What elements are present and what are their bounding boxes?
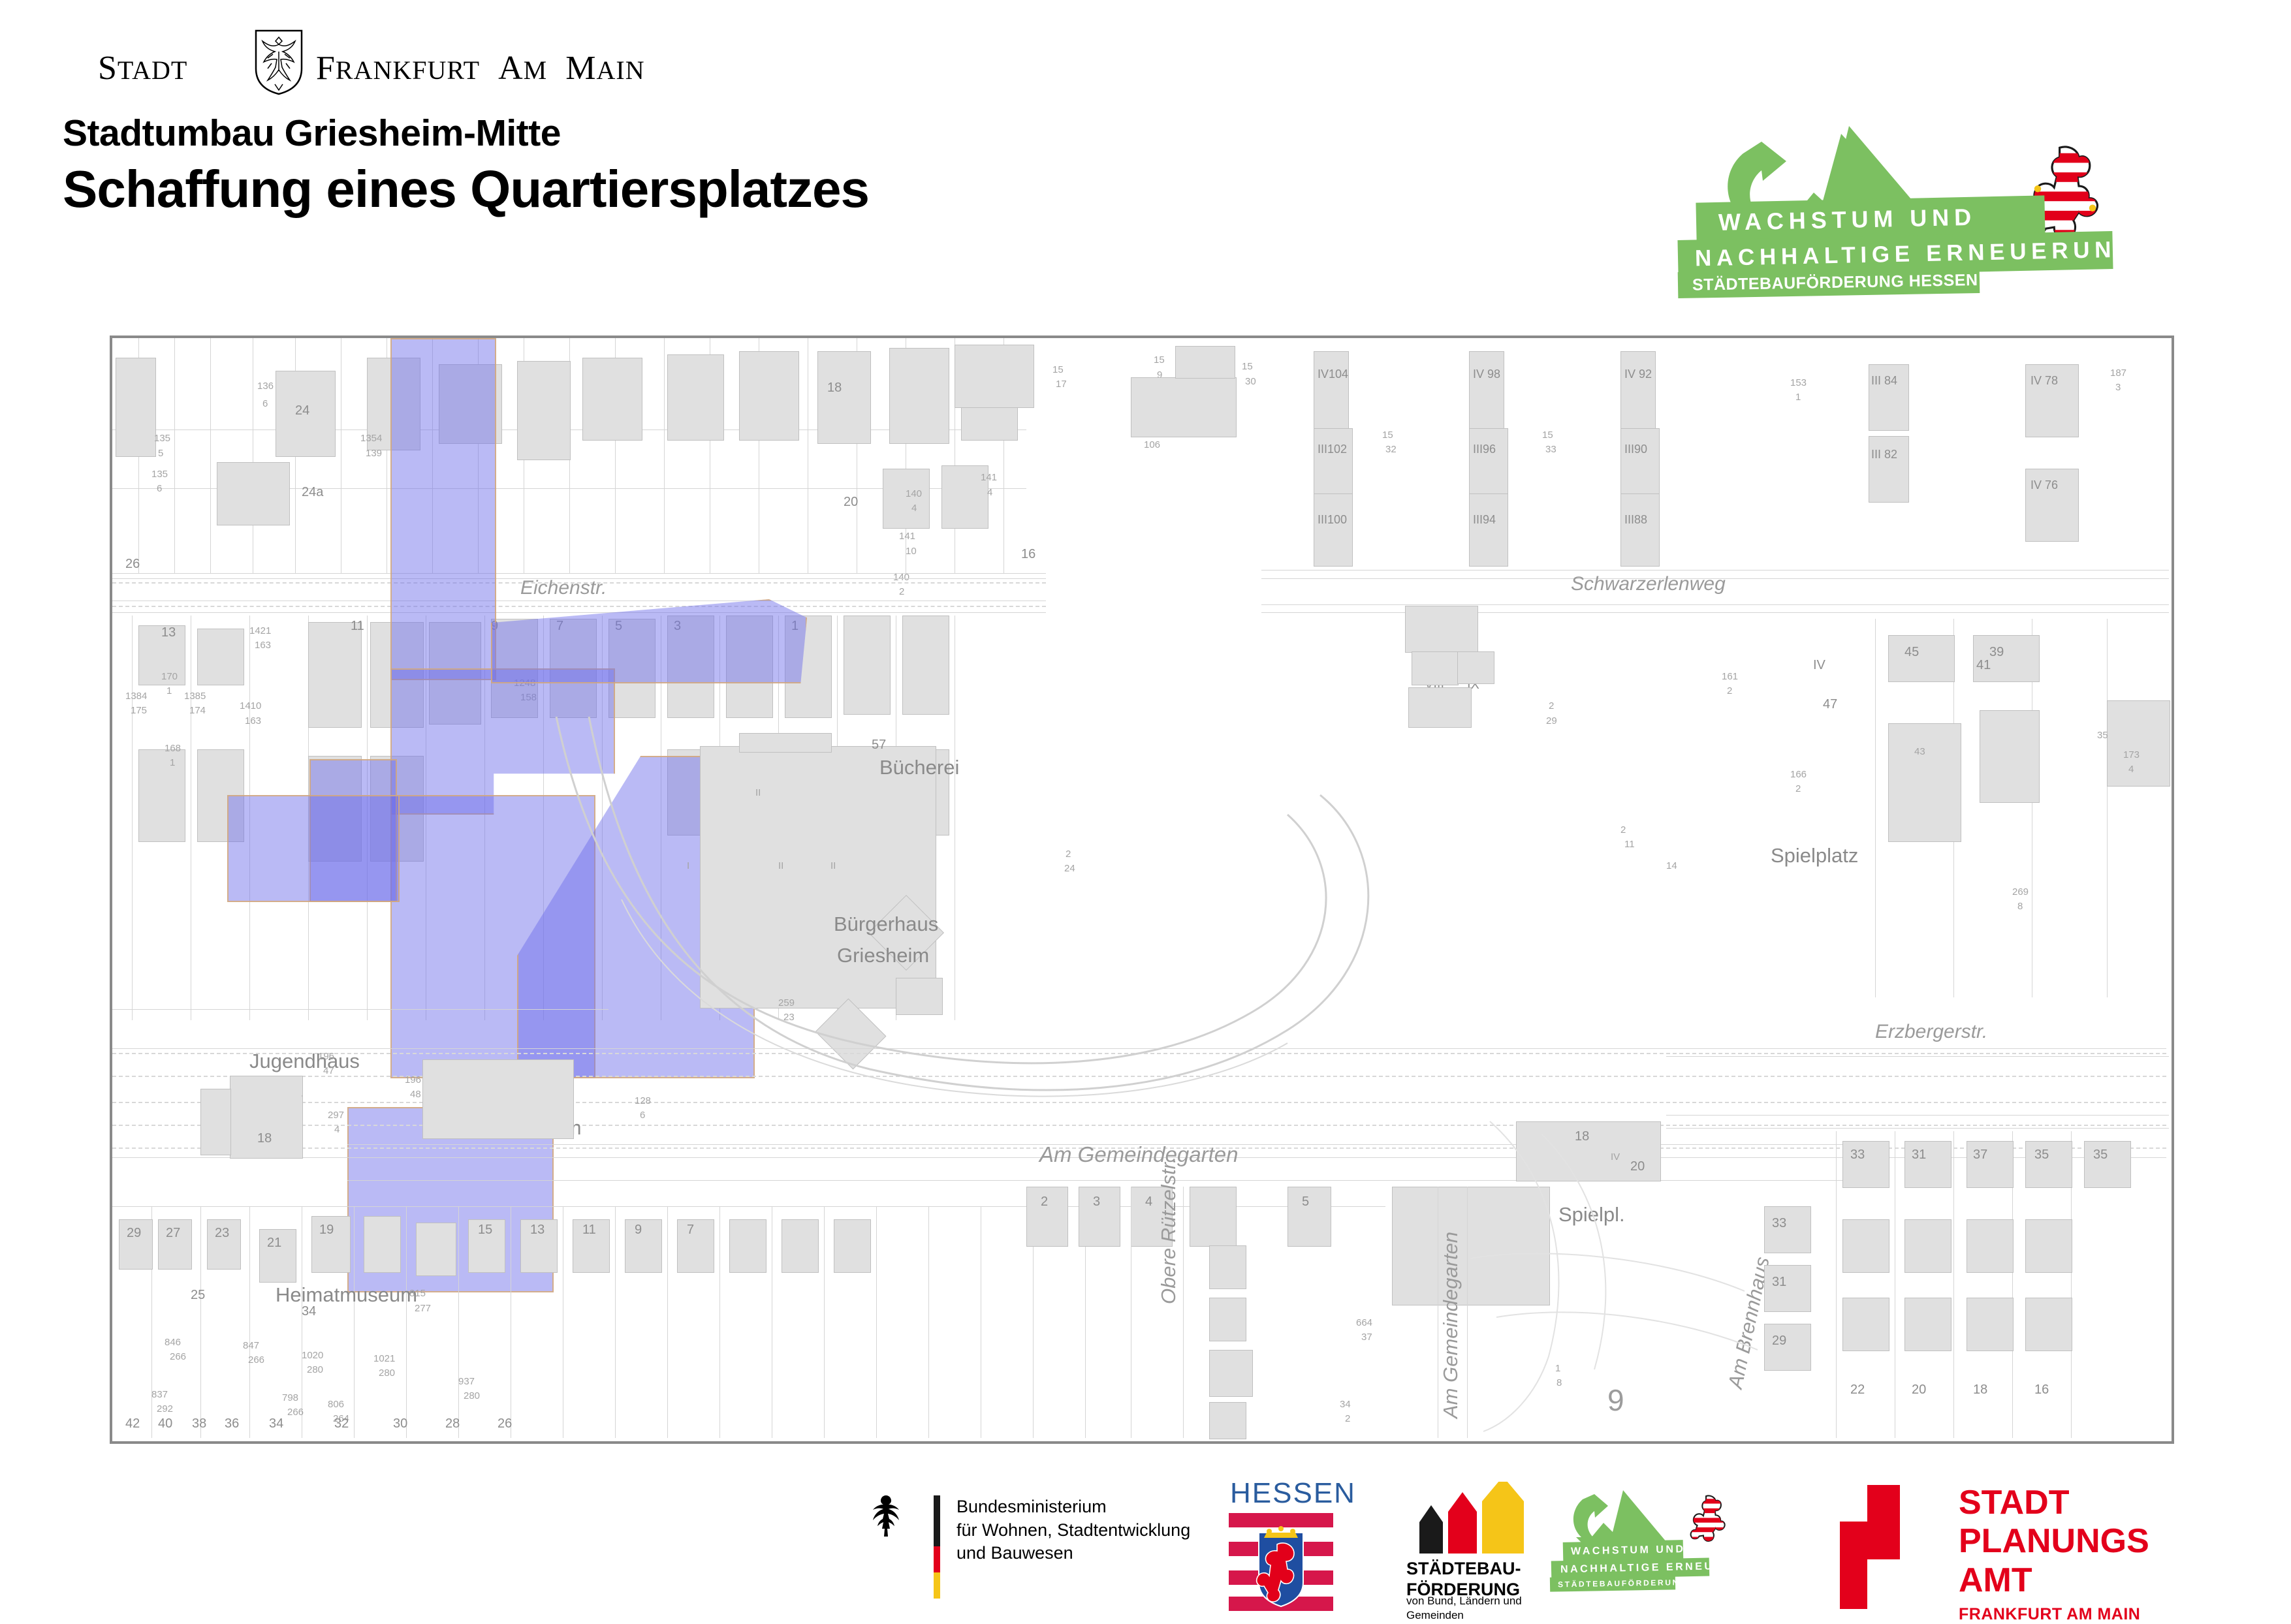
- page-subtitle: Stadtumbau Griesheim-Mitte: [63, 114, 1499, 153]
- spa-line-2: PLANUNGS: [1959, 1522, 2149, 1561]
- flag-bar-gold: [934, 1572, 940, 1599]
- cadastral-map[interactable]: 24 24a 26 18 20 16 136 6 135 5 135 6 135…: [110, 336, 2174, 1444]
- program-logo-wachstum-und-nachhaltige-erneuerung: WACHSTUM UND NACHHALTIGE ERNEUERUNG STÄD…: [1678, 108, 2148, 297]
- street-label-am-gemeindegarten: Am Gemeindegarten: [1039, 1142, 1239, 1167]
- map-canvas[interactable]: 24 24a 26 18 20 16 136 6 135 5 135 6 135…: [112, 338, 2166, 1436]
- flag-bar-black: [934, 1495, 940, 1546]
- logo-word-am: AM: [498, 49, 547, 87]
- poi-label-spielplatz: Spielplatz: [1771, 844, 1858, 867]
- footer-program-line3: STÄDTEBAUFÖRDERUNG HESSEN: [1550, 1575, 1675, 1591]
- highlight-area-west-parcel-lower: [227, 795, 400, 902]
- page-header: STADT FRANKFURT AM MAIN Stadtumbau Gries…: [0, 0, 2291, 326]
- staedtebau-line-1: STÄDTEBAU-: [1406, 1559, 1521, 1580]
- flag-bar-red: [934, 1546, 940, 1572]
- logo-word-frankfurt: FRANKFURT: [316, 49, 480, 87]
- city-logo-wordmark: STADT FRANKFURT AM MAIN: [98, 49, 516, 91]
- footer-logo-program: WACHSTUM UND NACHHALTIGE ERNEUERUNG STÄD…: [1560, 1484, 1756, 1608]
- hessen-wordmark: HESSEN: [1230, 1477, 1356, 1510]
- street-label-eichenstr: Eichenstr.: [520, 577, 607, 599]
- poi-label-jugendhaus: Jugendhaus: [249, 1050, 360, 1073]
- spa-subline: FRANKFURT AM MAIN: [1959, 1605, 2140, 1624]
- title-block: Stadtumbau Griesheim-Mitte Schaffung ein…: [63, 114, 1499, 217]
- logo-word-main: MAIN: [565, 49, 644, 87]
- map-marker-q: 9: [1607, 1382, 1624, 1418]
- staedtebau-sub-2: Gemeinden: [1406, 1608, 1522, 1623]
- hessen-shield-icon: [1229, 1513, 1333, 1611]
- street-label-obere-ruetzelstr: Obere Rützelstr.: [1157, 1157, 1180, 1304]
- highlight-area-north-axis: [390, 338, 496, 680]
- spa-line-1: STADT: [1959, 1484, 2149, 1522]
- logo-word-stadt: STADT: [98, 49, 249, 87]
- staedtebau-houses-icon: [1410, 1482, 1541, 1554]
- staedtebau-sub-1: von Bund, Ländern und: [1406, 1594, 1522, 1608]
- rail-loop-path: [517, 704, 1562, 1200]
- bmwsb-line-1: Bundesministerium: [956, 1495, 1190, 1519]
- program-logo-line3: STÄDTEBAUFÖRDERUNG HESSEN: [1678, 267, 1980, 298]
- stadtplanungsamt-mark-icon: [1828, 1485, 1946, 1609]
- park-contours: [1470, 1095, 1836, 1435]
- page-footer: Bundesministerium für Wohnen, Stadtentwi…: [0, 1472, 2291, 1619]
- street-label-am-gemeindegarten-vertical: Am Gemeindegarten: [1439, 1232, 1462, 1418]
- bmwsb-line-3: und Bauwesen: [956, 1542, 1190, 1565]
- poi-label-heimatmuseum: Heimatmuseum: [276, 1283, 417, 1307]
- spa-line-3: AMT: [1959, 1561, 2149, 1600]
- bundesadler-icon: [862, 1493, 910, 1544]
- page-title: Schaffung eines Quartiersplatzes: [63, 161, 1499, 217]
- street-label-schwarzerlenweg: Schwarzerlenweg: [1571, 573, 1726, 595]
- city-of-frankfurt-logo: STADT FRANKFURT AM MAIN: [98, 36, 516, 95]
- bmwsb-line-2: für Wohnen, Stadtentwicklung: [956, 1519, 1190, 1542]
- street-label-erzbergerstr: Erzbergerstr.: [1875, 1021, 1987, 1043]
